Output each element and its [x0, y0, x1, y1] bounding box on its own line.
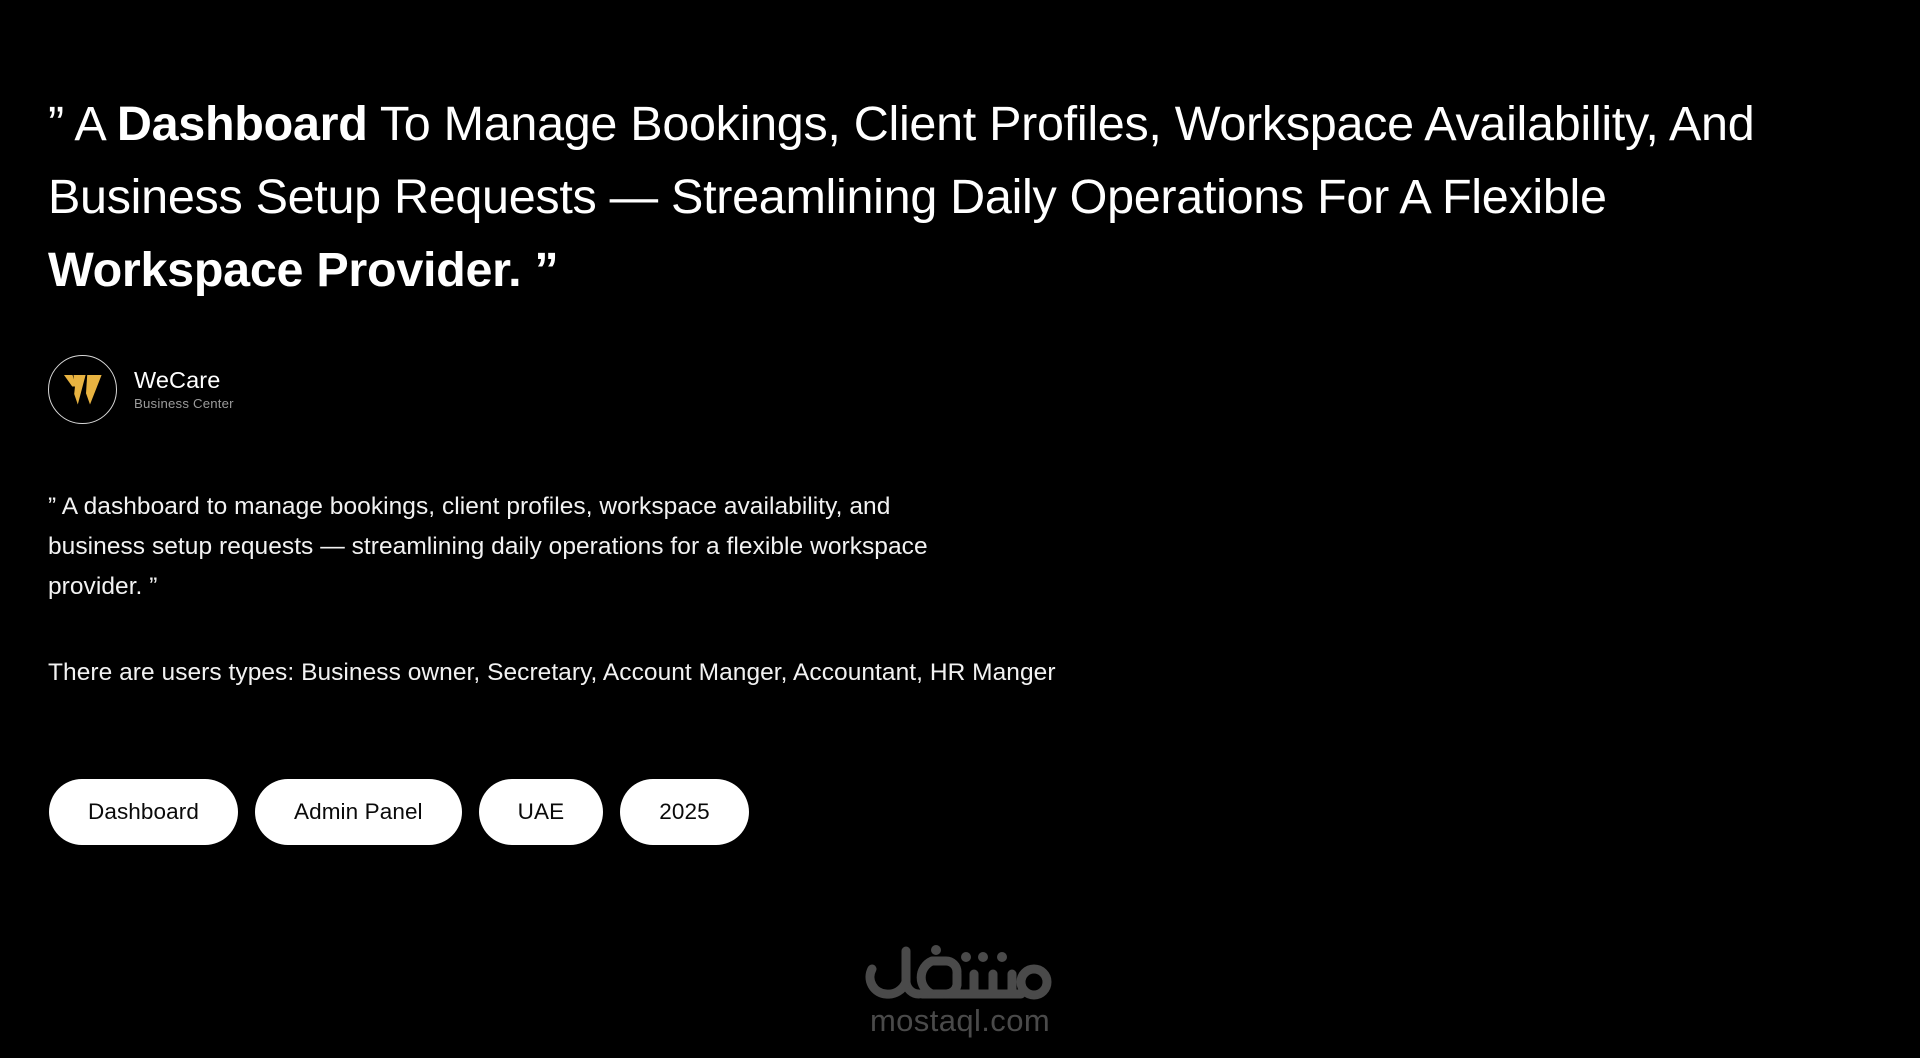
headline-close-quote: ”	[521, 243, 558, 297]
mostaql-watermark: mostaql.com	[0, 941, 1920, 1036]
headline-emphasis-workspace-provider: Workspace Provider.	[48, 243, 521, 297]
brand-text-block: WeCare Business Center	[134, 367, 234, 412]
headline-open-quote: ”	[48, 97, 64, 151]
tag-2025[interactable]: 2025	[620, 779, 748, 845]
tag-uae[interactable]: UAE	[479, 779, 604, 845]
wecare-w-monogram-icon	[48, 355, 117, 424]
tag-list: Dashboard Admin Panel UAE 2025	[49, 779, 749, 845]
headline-segment-1: A	[64, 97, 117, 151]
tag-admin-panel[interactable]: Admin Panel	[255, 779, 462, 845]
mostaql-arabic-logo-icon	[862, 941, 1058, 1003]
page-title: ” A Dashboard To Manage Bookings, Client…	[48, 88, 1768, 307]
brand-name: WeCare	[134, 367, 234, 394]
user-roles-text: There are users types: Business owner, S…	[48, 653, 1068, 693]
case-study-slide: ” A Dashboard To Manage Bookings, Client…	[0, 0, 1920, 1058]
description-quote: ” A dashboard to manage bookings, client…	[48, 487, 978, 607]
brand-lockup: WeCare Business Center	[48, 355, 234, 424]
mostaql-domain-text: mostaql.com	[870, 1005, 1050, 1036]
tag-dashboard[interactable]: Dashboard	[49, 779, 238, 845]
brand-subtitle: Business Center	[134, 396, 234, 412]
headline-emphasis-dashboard: Dashboard	[117, 97, 368, 151]
